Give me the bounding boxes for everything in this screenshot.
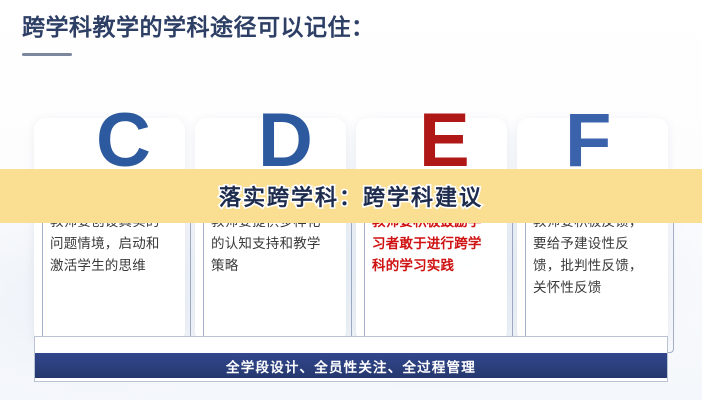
- card-body-text: 教师要积极反馈，要给予建设性反馈，批判性反馈，关怀性反馈: [533, 212, 656, 299]
- big-letter-d: D: [258, 103, 313, 179]
- overlay-caption-text: 落实跨学科：跨学科建议: [219, 180, 483, 212]
- bottom-summary-bar-text: 全学段设计、全员性关注、全过程管理: [226, 356, 476, 376]
- big-letter-c: C: [96, 103, 151, 179]
- page-title: 跨学科教学的学科途径可以记住：: [22, 16, 375, 41]
- title-underline-rule: [22, 53, 72, 56]
- title-block: 跨学科教学的学科途径可以记住：: [22, 16, 375, 56]
- bottom-summary-bar: 全学段设计、全员性关注、全过程管理: [35, 353, 667, 378]
- slide-canvas: 跨学科教学的学科途径可以记住： (Context) 情境 教师要创设真实的问题情…: [0, 0, 702, 400]
- overlay-caption-banner: 落实跨学科：跨学科建议: [0, 169, 702, 223]
- big-letter-f: F: [565, 103, 611, 179]
- big-letter-e: E: [419, 103, 470, 179]
